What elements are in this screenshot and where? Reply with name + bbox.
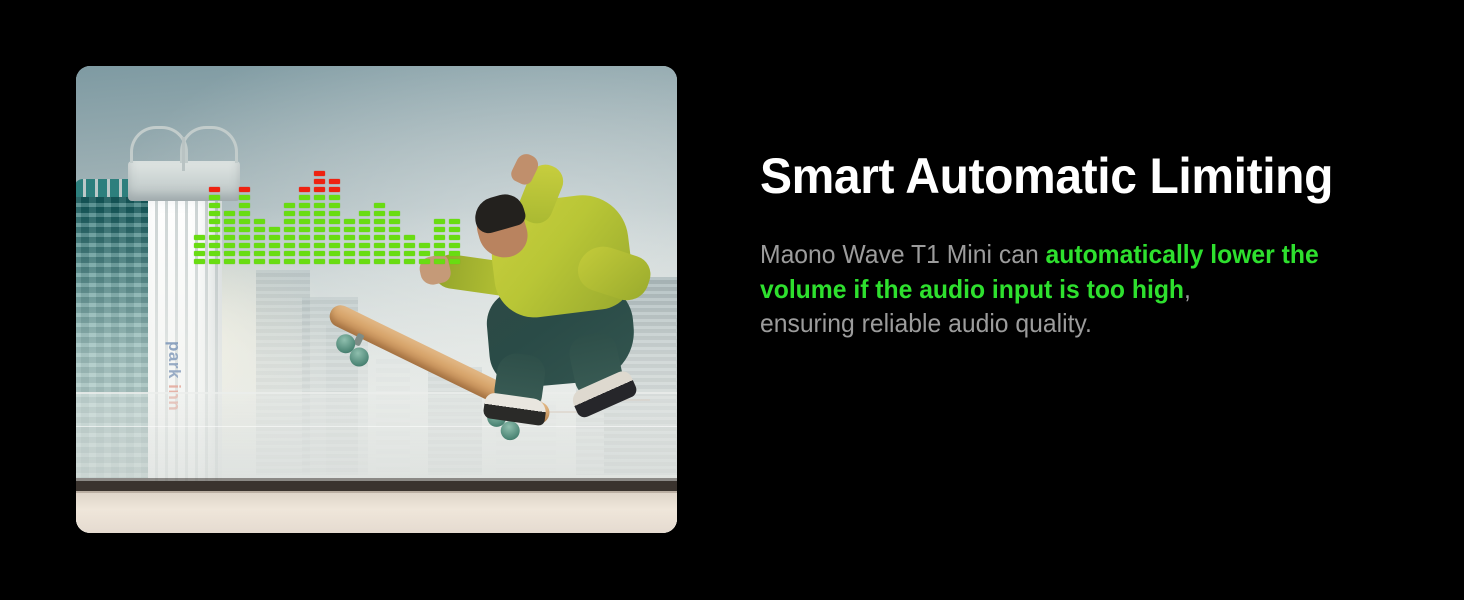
eq-bar-3 <box>224 211 235 264</box>
eq-segment-green <box>359 211 370 216</box>
eq-segment-green <box>434 235 445 240</box>
eq-segment-green <box>329 203 340 208</box>
eq-segment-green <box>284 227 295 232</box>
eq-segment-green <box>404 235 415 240</box>
concrete-ledge <box>76 481 677 533</box>
eq-segment-green <box>254 251 265 256</box>
eq-segment-green <box>449 243 460 248</box>
eq-segment-green <box>344 251 355 256</box>
eq-segment-green <box>239 251 250 256</box>
product-feature-image: park inn <box>76 66 677 533</box>
eq-segment-green <box>299 203 310 208</box>
eq-segment-green <box>284 203 295 208</box>
page-root: park inn <box>0 0 1464 600</box>
eq-bar-4 <box>239 187 250 264</box>
eq-segment-green <box>254 243 265 248</box>
feature-copy-block: Smart Automatic Limiting Maono Wave T1 M… <box>760 150 1410 341</box>
eq-bar-18 <box>449 219 460 264</box>
eq-segment-green <box>284 259 295 264</box>
eq-bar-9 <box>314 171 325 264</box>
eq-segment-green <box>284 211 295 216</box>
eq-segment-green <box>359 235 370 240</box>
eq-segment-green <box>389 227 400 232</box>
page-title: Smart Automatic Limiting <box>760 150 1384 203</box>
eq-segment-green <box>449 227 460 232</box>
eq-segment-green <box>449 259 460 264</box>
eq-segment-green <box>389 211 400 216</box>
eq-segment-green <box>224 251 235 256</box>
eq-segment-green <box>329 219 340 224</box>
eq-segment-green <box>224 227 235 232</box>
eq-segment-green <box>329 259 340 264</box>
eq-segment-green <box>404 251 415 256</box>
eq-segment-green <box>209 259 220 264</box>
eq-segment-green <box>329 235 340 240</box>
eq-segment-red <box>329 187 340 192</box>
eq-segment-green <box>209 251 220 256</box>
eq-segment-green <box>314 227 325 232</box>
eq-segment-green <box>434 259 445 264</box>
eq-segment-green <box>374 203 385 208</box>
eq-segment-green <box>239 211 250 216</box>
eq-segment-green <box>299 235 310 240</box>
eq-segment-green <box>254 235 265 240</box>
description-tail: ensuring reliable audio quality. <box>760 308 1092 338</box>
eq-segment-green <box>314 259 325 264</box>
eq-segment-red <box>299 187 310 192</box>
eq-segment-green <box>269 227 280 232</box>
eq-segment-green <box>299 243 310 248</box>
eq-segment-green <box>254 259 265 264</box>
eq-segment-green <box>194 251 205 256</box>
eq-segment-green <box>419 259 430 264</box>
eq-segment-green <box>314 195 325 200</box>
eq-segment-green <box>359 227 370 232</box>
eq-segment-green <box>329 227 340 232</box>
eq-segment-green <box>374 219 385 224</box>
eq-bar-10 <box>329 179 340 264</box>
eq-segment-green <box>299 219 310 224</box>
eq-segment-green <box>254 227 265 232</box>
eq-segment-green <box>374 235 385 240</box>
eq-segment-green <box>389 259 400 264</box>
eq-segment-green <box>344 243 355 248</box>
eq-segment-green <box>224 219 235 224</box>
eq-segment-green <box>434 251 445 256</box>
eq-segment-red <box>329 179 340 184</box>
eq-segment-green <box>239 235 250 240</box>
eq-segment-green <box>329 251 340 256</box>
eq-segment-green <box>419 251 430 256</box>
eq-segment-green <box>449 219 460 224</box>
eq-segment-green <box>239 259 250 264</box>
eq-segment-green <box>209 227 220 232</box>
eq-segment-green <box>344 235 355 240</box>
eq-segment-green <box>224 259 235 264</box>
eq-segment-green <box>269 259 280 264</box>
eq-segment-green <box>284 219 295 224</box>
eq-bar-14 <box>389 211 400 264</box>
eq-segment-green <box>209 203 220 208</box>
eq-segment-green <box>374 259 385 264</box>
eq-segment-green <box>329 211 340 216</box>
feature-description: Maono Wave T1 Mini can automatically low… <box>760 237 1378 341</box>
eq-segment-green <box>389 219 400 224</box>
eq-segment-green <box>374 251 385 256</box>
eq-segment-red <box>314 187 325 192</box>
eq-segment-green <box>209 219 220 224</box>
eq-segment-green <box>239 195 250 200</box>
eq-segment-green <box>314 219 325 224</box>
eq-segment-green <box>359 259 370 264</box>
eq-segment-green <box>374 243 385 248</box>
eq-segment-red <box>314 179 325 184</box>
eq-segment-red <box>314 171 325 176</box>
eq-segment-green <box>314 235 325 240</box>
eq-segment-green <box>284 235 295 240</box>
eq-bar-7 <box>284 203 295 264</box>
eq-segment-green <box>314 251 325 256</box>
eq-segment-green <box>209 211 220 216</box>
eq-bar-8 <box>299 187 310 264</box>
eq-segment-green <box>449 235 460 240</box>
eq-bar-15 <box>404 235 415 264</box>
eq-segment-green <box>419 243 430 248</box>
eq-segment-green <box>194 243 205 248</box>
eq-bar-6 <box>269 227 280 264</box>
eq-segment-green <box>329 195 340 200</box>
eq-segment-green <box>269 235 280 240</box>
eq-segment-green <box>239 219 250 224</box>
eq-segment-green <box>224 235 235 240</box>
eq-bar-13 <box>374 203 385 264</box>
eq-segment-green <box>224 243 235 248</box>
eq-segment-green <box>374 211 385 216</box>
eq-bar-17 <box>434 219 445 264</box>
eq-bar-12 <box>359 211 370 264</box>
eq-bar-5 <box>254 219 265 264</box>
eq-bar-2 <box>209 187 220 264</box>
eq-segment-green <box>314 211 325 216</box>
eq-segment-green <box>224 211 235 216</box>
eq-segment-green <box>209 243 220 248</box>
description-lead: Maono Wave T1 Mini can <box>760 239 1046 269</box>
eq-segment-green <box>344 219 355 224</box>
eq-segment-green <box>299 251 310 256</box>
eq-segment-green <box>344 259 355 264</box>
eq-segment-green <box>374 227 385 232</box>
eq-segment-green <box>314 203 325 208</box>
eq-segment-green <box>284 243 295 248</box>
eq-segment-green <box>269 243 280 248</box>
eq-bar-1 <box>194 235 205 264</box>
eq-segment-green <box>389 251 400 256</box>
eq-segment-green <box>434 227 445 232</box>
eq-bar-11 <box>344 219 355 264</box>
eq-segment-green <box>434 243 445 248</box>
eq-segment-green <box>314 243 325 248</box>
eq-segment-green <box>404 259 415 264</box>
eq-segment-green <box>194 235 205 240</box>
eq-segment-green <box>434 219 445 224</box>
eq-segment-green <box>299 195 310 200</box>
eq-segment-green <box>254 219 265 224</box>
eq-segment-green <box>209 195 220 200</box>
eq-segment-green <box>389 243 400 248</box>
eq-segment-green <box>359 243 370 248</box>
eq-segment-green <box>284 251 295 256</box>
audio-level-meter <box>194 158 460 264</box>
eq-segment-green <box>299 211 310 216</box>
eq-segment-green <box>389 235 400 240</box>
eq-segment-green <box>359 219 370 224</box>
eq-segment-green <box>449 251 460 256</box>
eq-segment-green <box>239 227 250 232</box>
eq-segment-green <box>299 259 310 264</box>
description-comma: , <box>1184 274 1191 304</box>
eq-segment-green <box>299 227 310 232</box>
eq-segment-green <box>329 243 340 248</box>
eq-segment-green <box>404 243 415 248</box>
eq-segment-green <box>239 243 250 248</box>
eq-segment-red <box>239 187 250 192</box>
eq-segment-green <box>239 203 250 208</box>
eq-segment-green <box>359 251 370 256</box>
park-inn-mast <box>182 137 185 171</box>
eq-bar-16 <box>419 243 430 264</box>
eq-segment-green <box>269 251 280 256</box>
eq-segment-red <box>209 187 220 192</box>
eq-segment-green <box>209 235 220 240</box>
eq-segment-green <box>344 227 355 232</box>
eq-segment-green <box>194 259 205 264</box>
